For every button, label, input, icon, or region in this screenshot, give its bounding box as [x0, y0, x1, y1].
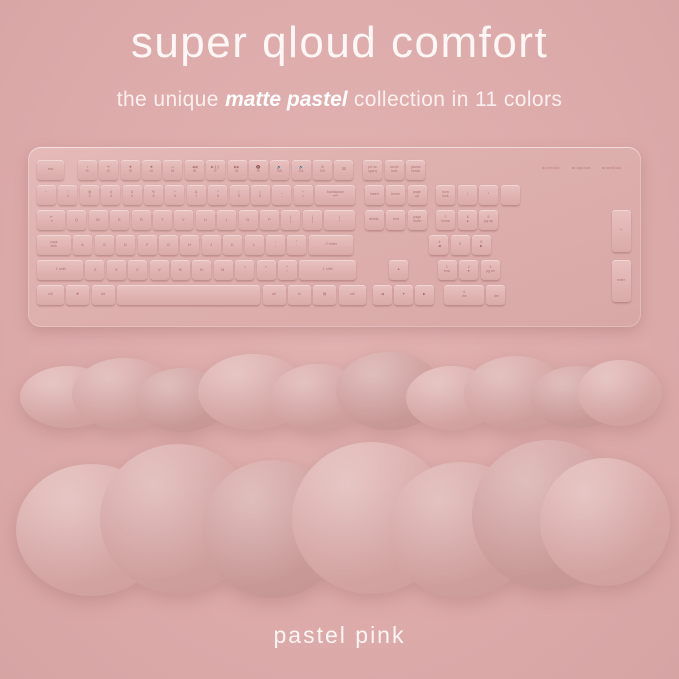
- key[interactable]: < ,: [235, 260, 254, 280]
- key-label: | \: [339, 216, 340, 223]
- key[interactable]: P: [260, 210, 279, 230]
- key[interactable]: page up: [408, 185, 427, 205]
- key-label: ( 9: [238, 191, 240, 198]
- key[interactable]: ⌧: [334, 160, 353, 180]
- key-label: ◀: [381, 293, 384, 297]
- key[interactable]: B: [171, 260, 190, 280]
- key-spacer: [66, 160, 75, 180]
- key[interactable]: ✉ f12: [313, 160, 332, 180]
- key-spacer: [437, 285, 442, 305]
- key-label: H: [188, 243, 191, 247]
- key[interactable]: _ -: [272, 185, 291, 205]
- key[interactable]: 🔇 f9: [249, 160, 268, 180]
- key-label: D: [124, 243, 127, 247]
- keyboard: num lockcaps lockscroll lock esc♪ f1✳ f2…: [28, 147, 641, 327]
- key[interactable]: I: [217, 210, 236, 230]
- key-label: ✸ f3: [129, 166, 132, 173]
- key-label: enter: [617, 279, 625, 283]
- key-label: L: [253, 243, 255, 247]
- key-label: *: [488, 193, 489, 197]
- key[interactable]: " ': [287, 235, 306, 255]
- key[interactable]: R: [132, 210, 151, 230]
- key[interactable]: M: [214, 260, 233, 280]
- key[interactable]: H: [180, 235, 199, 255]
- key-label: prt sc sysrq: [368, 166, 377, 173]
- key-label: fn: [298, 293, 301, 297]
- key-spacer: [357, 210, 362, 230]
- mouse-wrist-rest: [16, 440, 666, 600]
- key-label: ! 1: [67, 191, 69, 198]
- key-label: # 3: [110, 191, 112, 198]
- key-label: +: [620, 229, 622, 233]
- key-label: 0 ins: [462, 291, 467, 298]
- key-label: B: [179, 268, 182, 272]
- key-label: caps lock: [50, 241, 57, 248]
- key-label: ▲: [397, 268, 400, 272]
- status-led-scroll-lock: scroll lock: [602, 166, 621, 170]
- key[interactable]: ! 1: [58, 185, 77, 205]
- keyboard-row-bottom-row: ctrl❖altaltfn▤ctrl◀▼▶0 ins. del: [37, 285, 505, 305]
- key[interactable]: C: [128, 260, 147, 280]
- keyboard-row-number-row: ~ `! 1@ 2# 3$ 4% 5^ 6& 7* 8( 9) 0_ -+ =b…: [37, 185, 520, 205]
- key-label: 3 pg dn: [486, 266, 495, 273]
- key-label: ▶: [423, 293, 426, 297]
- key-label: < ,: [244, 266, 246, 273]
- key-label: ◀◀ f6: [192, 166, 197, 173]
- key[interactable]: alt: [263, 285, 286, 305]
- key-label: W: [96, 218, 100, 222]
- key[interactable]: U: [196, 210, 215, 230]
- key[interactable]: O: [239, 210, 258, 230]
- key[interactable]: ? /: [278, 260, 297, 280]
- key[interactable]: delete: [365, 210, 384, 230]
- key[interactable]: ▶▶ f8: [228, 160, 247, 180]
- key[interactable]: > .: [257, 260, 276, 280]
- key[interactable]: 3 pg dn: [481, 260, 500, 280]
- key[interactable]: Q: [67, 210, 86, 230]
- key-spacer: [356, 160, 361, 180]
- key-label: 🔊 f11: [299, 166, 304, 173]
- key[interactable]: T: [153, 210, 172, 230]
- key[interactable]: ~ `: [37, 185, 56, 205]
- key-label: P: [268, 218, 271, 222]
- key-label: 2 ▼: [467, 266, 470, 273]
- key-label: ✹ f4: [150, 166, 153, 173]
- key[interactable]: num lock: [436, 185, 455, 205]
- key-label: pause break: [411, 166, 421, 173]
- key-label: ctrl: [350, 293, 355, 297]
- key[interactable]: fn: [288, 285, 311, 305]
- key-label: ▼: [402, 293, 405, 297]
- key-label: O: [246, 218, 249, 222]
- key-label: ▶▶ f8: [234, 166, 239, 173]
- key[interactable]: pause break: [406, 160, 425, 180]
- key-label: I: [226, 218, 227, 222]
- key-label: " ': [296, 241, 297, 248]
- key[interactable]: ▤: [313, 285, 336, 305]
- key-label: A: [81, 243, 84, 247]
- key[interactable]: ctrl: [37, 285, 64, 305]
- key[interactable]: [117, 285, 260, 305]
- key[interactable]: 8 ▲: [458, 210, 477, 230]
- key-label: backspace ⟵: [327, 191, 344, 198]
- key-label: end: [393, 218, 399, 222]
- key-spacer: [357, 185, 362, 205]
- keyboard-row-qwerty-row: ⇤ ⇥QWERTYUIOP{ [} ]| \deleteendpage down…: [37, 210, 498, 230]
- key-label: : ;: [275, 241, 276, 248]
- key-label: 8 ▲: [466, 216, 469, 223]
- keyboard-row-home-row: caps lockASDFGHJKL: ;" '⏎ enter4 ◀56 ▶: [37, 235, 491, 255]
- status-led-caps-lock: caps lock: [572, 166, 590, 170]
- key[interactable]: * 8: [208, 185, 227, 205]
- key[interactable]: : ;: [266, 235, 285, 255]
- key[interactable]: /: [458, 185, 477, 205]
- key-label: page up: [413, 191, 421, 198]
- key[interactable]: 0 ins: [444, 285, 484, 305]
- key[interactable]: . del: [486, 285, 505, 305]
- key[interactable]: 6 ▶: [472, 235, 491, 255]
- key-label: R: [140, 218, 143, 222]
- key[interactable]: 9 pg up: [479, 210, 498, 230]
- key[interactable]: enter: [612, 260, 631, 302]
- key[interactable]: ⏎ enter: [309, 235, 353, 255]
- key-label: ♪ f1: [86, 166, 89, 173]
- page-title: super qloud comfort: [0, 20, 679, 66]
- key-label: 🔇 f9: [256, 166, 260, 173]
- key-label: ⇤ ⇥: [50, 216, 53, 223]
- key-label: ✳ f2: [107, 166, 110, 173]
- key-label: S: [103, 243, 106, 247]
- key-label: ^ 6: [174, 191, 176, 198]
- key[interactable]: 5: [451, 235, 470, 255]
- key-label: M: [222, 268, 225, 272]
- key-label: _ -: [281, 191, 283, 198]
- key[interactable]: ^ 6: [165, 185, 184, 205]
- key-label: ⏎ enter: [325, 243, 337, 247]
- key-label: scroll lock: [390, 166, 398, 173]
- key[interactable]: W: [89, 210, 108, 230]
- key[interactable]: ▭ f5: [163, 160, 182, 180]
- key-label: delete: [370, 218, 380, 222]
- key[interactable]: *: [479, 185, 498, 205]
- color-name-caption: pastel pink: [0, 622, 679, 649]
- key-label: num lock: [443, 191, 450, 198]
- key[interactable]: home: [386, 185, 405, 205]
- status-led-num-lock: num lock: [542, 166, 560, 170]
- key-label: ⇧ shift: [323, 268, 333, 272]
- key[interactable]: ▼: [394, 285, 413, 305]
- key-label: ) 0: [259, 191, 261, 198]
- key[interactable]: K: [223, 235, 242, 255]
- key-label: X: [115, 268, 118, 272]
- key-label: 4 ◀: [438, 241, 441, 248]
- key-label: ❖: [76, 293, 79, 297]
- key[interactable]: 🔉 f10: [270, 160, 289, 180]
- key-label: C: [136, 268, 139, 272]
- key[interactable]: prt sc sysrq: [363, 160, 382, 180]
- key[interactable]: +: [612, 210, 631, 252]
- key-label: { [: [290, 216, 291, 223]
- key-label: E: [118, 218, 121, 222]
- key-label: ⇧ shift: [55, 268, 65, 272]
- key[interactable]: X: [107, 260, 126, 280]
- key-label: > .: [265, 266, 267, 273]
- key-label: ? /: [286, 266, 288, 273]
- key-spacer: [355, 235, 427, 255]
- key[interactable]: ) 0: [251, 185, 270, 205]
- key[interactable]: ( 9: [230, 185, 249, 205]
- key-label: T: [161, 218, 164, 222]
- key[interactable]: # 3: [101, 185, 120, 205]
- key[interactable]: % 5: [144, 185, 163, 205]
- key-label: ⌧: [342, 168, 346, 172]
- key-spacer: [359, 260, 387, 280]
- subtitle-after: collection in 11 colors: [348, 88, 563, 111]
- key-label: 9 pg up: [484, 216, 493, 223]
- key[interactable]: ♪ f1: [78, 160, 97, 180]
- key-label: Q: [75, 218, 78, 222]
- key-label: @ 2: [88, 191, 91, 198]
- key-label: alt: [272, 293, 276, 297]
- status-led-label: num lock: [546, 166, 560, 170]
- key[interactable]: Z: [85, 260, 104, 280]
- key[interactable]: 7 home: [436, 210, 455, 230]
- key[interactable]: N: [192, 260, 211, 280]
- key[interactable]: -: [501, 185, 520, 205]
- subtitle: the unique matte pastel collection in 11…: [0, 88, 679, 112]
- subtitle-before: the unique: [117, 88, 225, 111]
- key-label: ~ `: [45, 191, 47, 198]
- key-label: * 8: [217, 191, 219, 198]
- key-spacer: [429, 210, 434, 230]
- key-label: esc: [48, 168, 53, 172]
- key[interactable]: ✹ f4: [142, 160, 161, 180]
- key-label: insert: [370, 193, 379, 197]
- key[interactable]: A: [73, 235, 92, 255]
- key[interactable]: ⇤ ⇥: [37, 210, 65, 230]
- led-dot-icon: [602, 167, 605, 170]
- product-image: super qloud comfort the unique matte pas…: [0, 0, 679, 679]
- key[interactable]: S: [95, 235, 114, 255]
- keyboard-wrist-rest: [18, 352, 662, 432]
- key-label: . del: [494, 291, 499, 298]
- key[interactable]: esc: [37, 160, 64, 180]
- subtitle-emphasis: matte pastel: [225, 88, 348, 111]
- key[interactable]: ctrl: [339, 285, 366, 305]
- key[interactable]: ⇧ shift: [37, 260, 83, 280]
- key[interactable]: ◀◀ f6: [185, 160, 204, 180]
- key[interactable]: } ]: [303, 210, 322, 230]
- keyboard-deck: num lockcaps lockscroll lock esc♪ f1✳ f2…: [37, 160, 632, 320]
- key[interactable]: Y: [174, 210, 193, 230]
- key[interactable]: V: [150, 260, 169, 280]
- key[interactable]: 🔊 f11: [292, 160, 311, 180]
- key[interactable]: | \: [324, 210, 355, 230]
- key[interactable]: ⇧ shift: [299, 260, 356, 280]
- key[interactable]: $ 4: [123, 185, 142, 205]
- status-led-label: scroll lock: [606, 166, 621, 170]
- key-label: } ]: [312, 216, 313, 223]
- key-label: 🔉 f10: [277, 166, 282, 173]
- key[interactable]: ▲: [389, 260, 408, 280]
- wrist-rest-lobe: [540, 458, 670, 586]
- key-label: U: [204, 218, 207, 222]
- key-label: 7 home: [442, 216, 451, 223]
- status-led-label: caps lock: [576, 166, 590, 170]
- key[interactable]: ✸ f3: [121, 160, 140, 180]
- key-label: 1 end: [444, 266, 450, 273]
- key[interactable]: 4 ◀: [429, 235, 448, 255]
- key-spacer: [410, 260, 435, 280]
- key[interactable]: ✳ f2: [99, 160, 118, 180]
- key[interactable]: D: [116, 235, 135, 255]
- status-led-group: num lockcaps lockscroll lock: [542, 166, 632, 176]
- key[interactable]: backspace ⟵: [315, 185, 355, 205]
- key-label: K: [231, 243, 234, 247]
- key-label: 6 ▶: [480, 241, 483, 248]
- key-label: -: [509, 193, 510, 197]
- key[interactable]: alt: [92, 285, 115, 305]
- key-label: page down: [413, 216, 421, 223]
- key[interactable]: scroll lock: [385, 160, 404, 180]
- key-label: % 5: [152, 191, 155, 198]
- key[interactable]: & 7: [187, 185, 206, 205]
- key[interactable]: F: [138, 235, 157, 255]
- key-label: /: [467, 193, 468, 197]
- key[interactable]: { [: [281, 210, 300, 230]
- key[interactable]: J: [202, 235, 221, 255]
- key-label: F: [146, 243, 149, 247]
- key[interactable]: ▶: [415, 285, 434, 305]
- key[interactable]: 1 end: [438, 260, 457, 280]
- keyboard-row-function-row: esc♪ f1✳ f2✸ f3✹ f4▭ f5◀◀ f6▶❙❙ f7▶▶ f8🔇…: [37, 160, 425, 180]
- key[interactable]: 2 ▼: [459, 260, 478, 280]
- key-label: Y: [182, 218, 185, 222]
- key-spacer: [429, 185, 434, 205]
- key-label: home: [391, 193, 400, 197]
- key[interactable]: end: [386, 210, 405, 230]
- key-label: N: [200, 268, 203, 272]
- key[interactable]: ◀: [373, 285, 392, 305]
- led-dot-icon: [542, 167, 545, 170]
- key[interactable]: ❖: [66, 285, 89, 305]
- key[interactable]: page down: [408, 210, 427, 230]
- key-label: V: [158, 268, 161, 272]
- wrist-rest-lobe: [578, 360, 662, 426]
- key-label: G: [167, 243, 170, 247]
- key-label: J: [210, 243, 212, 247]
- key-label: $ 4: [131, 191, 133, 198]
- key-label: 5: [459, 243, 461, 247]
- key[interactable]: L: [245, 235, 264, 255]
- key[interactable]: insert: [365, 185, 384, 205]
- key-label: ▤: [323, 293, 326, 297]
- key[interactable]: E: [110, 210, 129, 230]
- led-dot-icon: [572, 167, 575, 170]
- key-label: & 7: [195, 191, 197, 198]
- keyboard-row-shift-row: ⇧ shiftZXCVBNM< ,> .? /⇧ shift▲1 end2 ▼3…: [37, 260, 500, 280]
- key-label: + =: [302, 191, 304, 198]
- key-spacer: [368, 285, 370, 305]
- key-label: ▶❙❙ f7: [211, 166, 219, 173]
- key[interactable]: caps lock: [37, 235, 71, 255]
- key[interactable]: + =: [294, 185, 313, 205]
- key-label: alt: [101, 293, 105, 297]
- key-label: Z: [94, 268, 97, 272]
- key[interactable]: G: [159, 235, 178, 255]
- key-label: ctrl: [48, 293, 53, 297]
- key[interactable]: @ 2: [80, 185, 99, 205]
- key-label: ✉ f12: [320, 166, 325, 173]
- key-label: ▭ f5: [171, 166, 174, 173]
- key[interactable]: ▶❙❙ f7: [206, 160, 225, 180]
